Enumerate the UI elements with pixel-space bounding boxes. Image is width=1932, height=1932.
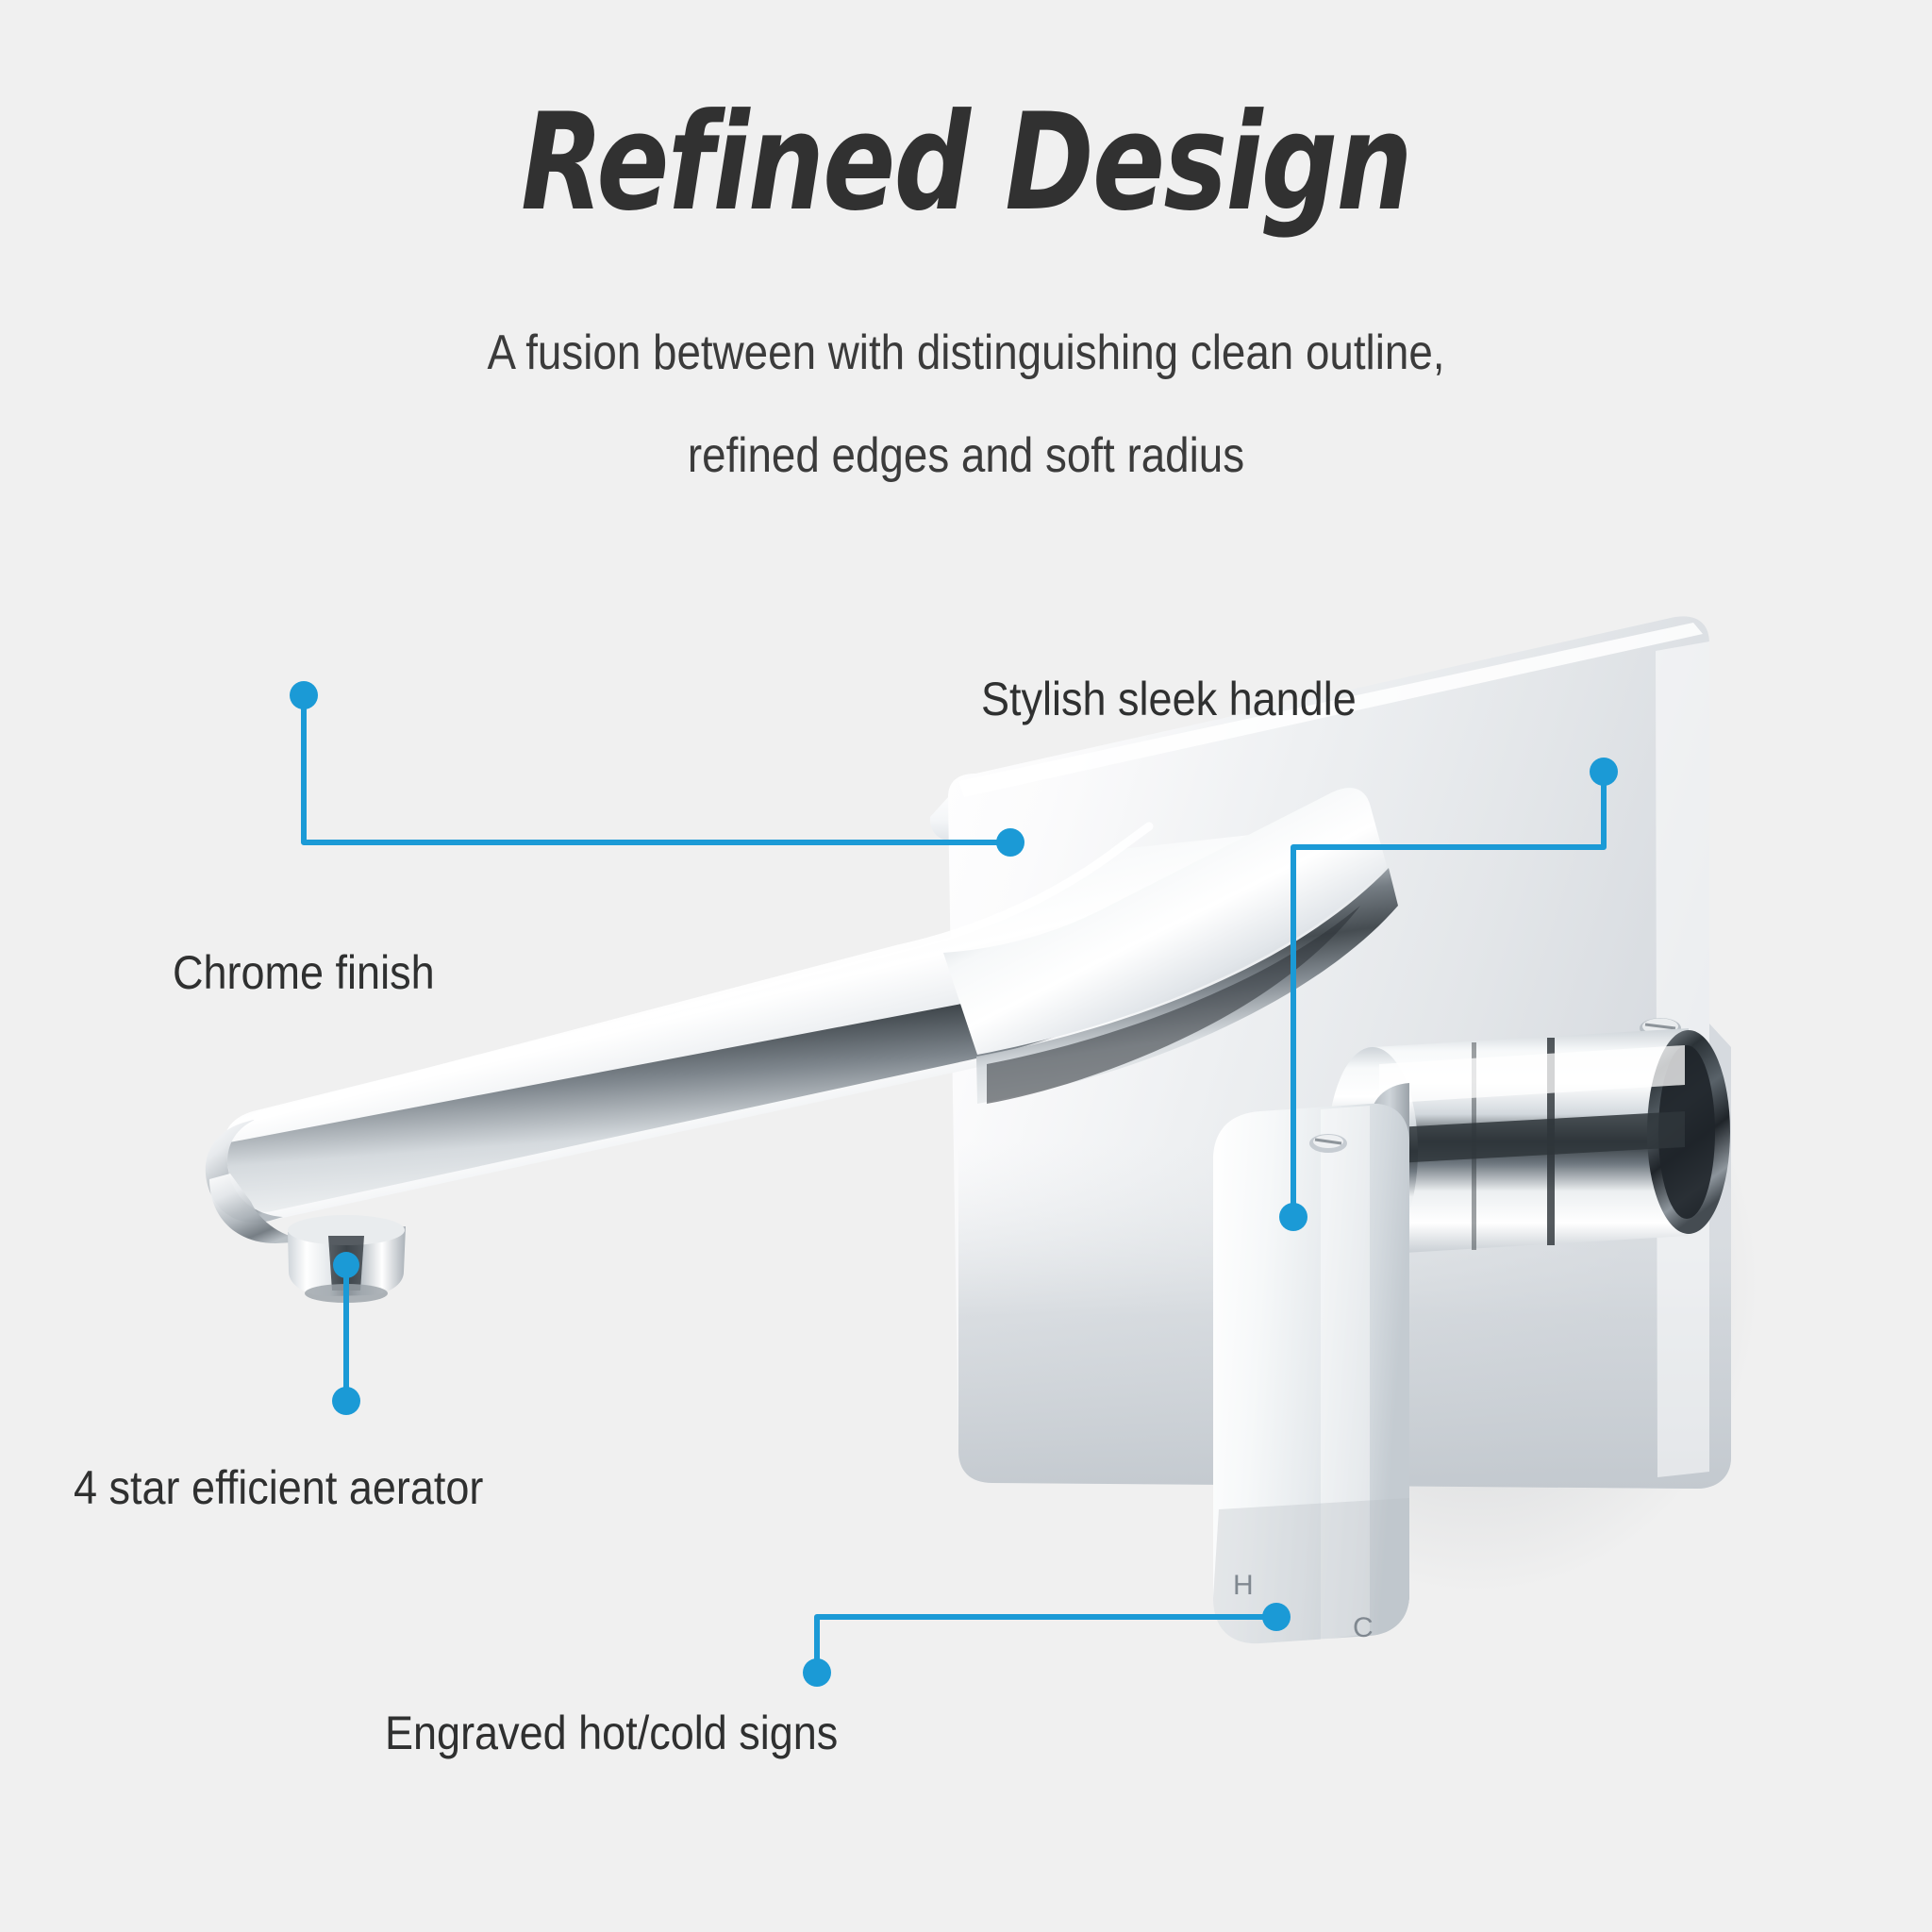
infographic-canvas: Refined Design A fusion between with dis… bbox=[0, 0, 1932, 1932]
handle-lever: H C bbox=[1213, 1083, 1409, 1643]
engraving-cold: C bbox=[1353, 1612, 1374, 1643]
aerator bbox=[288, 1215, 406, 1303]
callout-label-engraved-hot-cold-signs: Engraved hot/cold signs bbox=[385, 1706, 838, 1760]
lever-hub-screw bbox=[1309, 1134, 1347, 1153]
callout-label-chrome-finish: Chrome finish bbox=[173, 945, 435, 1000]
callout-label-four-star-aerator: 4 star efficient aerator bbox=[74, 1460, 483, 1515]
callout-label-stylish-sleek-handle: Stylish sleek handle bbox=[981, 672, 1357, 726]
engraving-hot: H bbox=[1233, 1570, 1254, 1601]
